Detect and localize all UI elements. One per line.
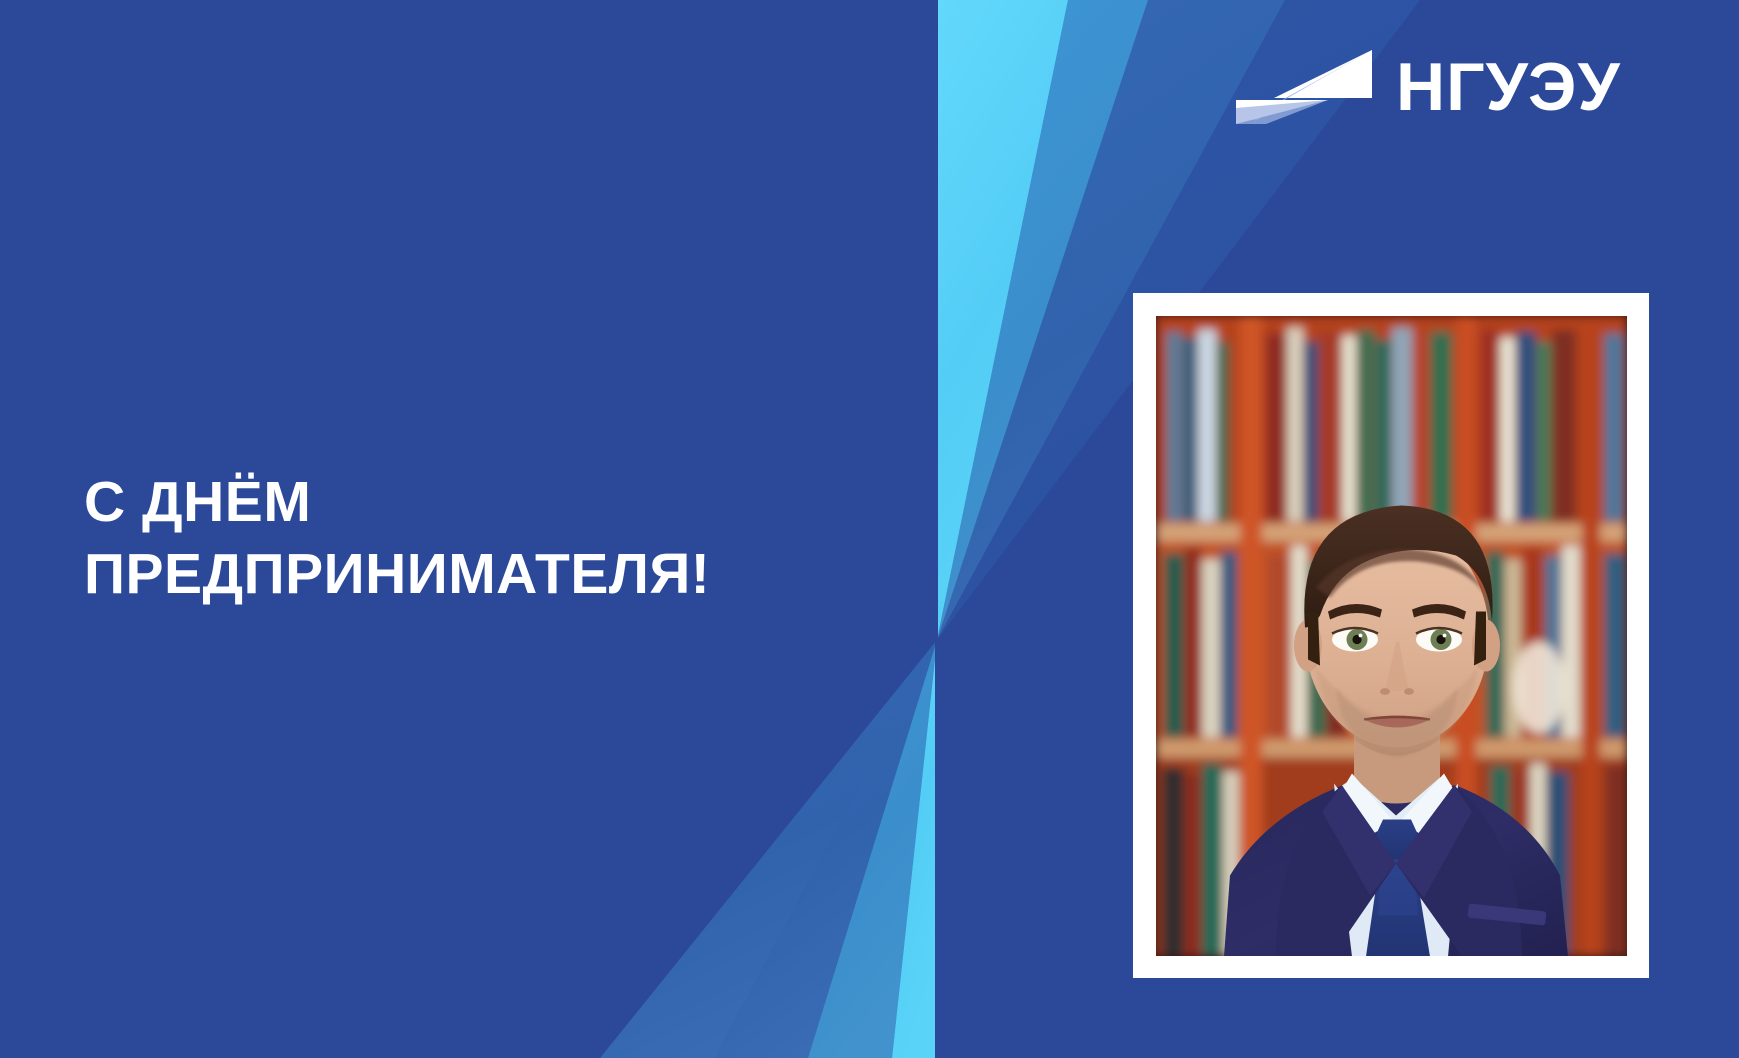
ngueu-logo: НГУЭУ [1236, 46, 1621, 128]
ngueu-triangle-mark [1236, 48, 1372, 126]
portrait-frame [1133, 293, 1649, 978]
logo-wordmark: НГУЭУ [1396, 53, 1621, 121]
portrait-photo [1156, 316, 1627, 956]
page-title: С ДНЁМ ПРЕДПРИНИМАТЕЛЯ! [84, 466, 884, 610]
headline-line-2: ПРЕДПРИНИМАТЕЛЯ! [84, 538, 884, 610]
headline-line-1: С ДНЁМ [84, 466, 884, 538]
greeting-poster: НГУЭУ С ДНЁМ ПРЕДПРИНИМАТЕЛЯ! [0, 0, 1739, 1058]
portrait-illustration [1156, 316, 1627, 956]
